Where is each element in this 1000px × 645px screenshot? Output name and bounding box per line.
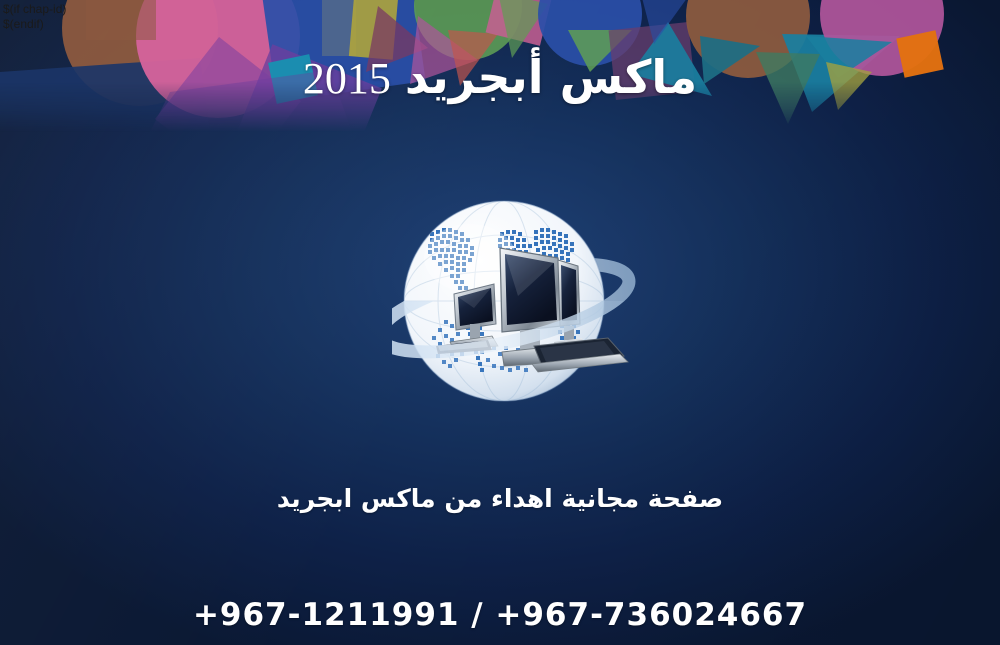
contact-phone-numbers: +967-1211991 / +967-736024667	[0, 597, 1000, 633]
template-placeholder-text: $(if chap-id) $(endif)	[3, 2, 66, 32]
poster-page: $(if chap-id) $(endif) ماكس أبجريد 2015	[0, 0, 1000, 645]
globe-computers-artwork	[392, 196, 642, 411]
slogan-text: صفحة مجانية اهداء من ماكس ابجريد	[0, 484, 1000, 513]
shape-triangle-coral	[448, 30, 498, 86]
confetti-svg	[0, 0, 1000, 132]
header-band	[0, 0, 1000, 132]
shape-rect-brown-small	[86, 0, 156, 40]
header-confetti-shapes	[0, 0, 1000, 132]
globe-icon	[392, 196, 642, 411]
shape-square-orange	[896, 30, 943, 77]
